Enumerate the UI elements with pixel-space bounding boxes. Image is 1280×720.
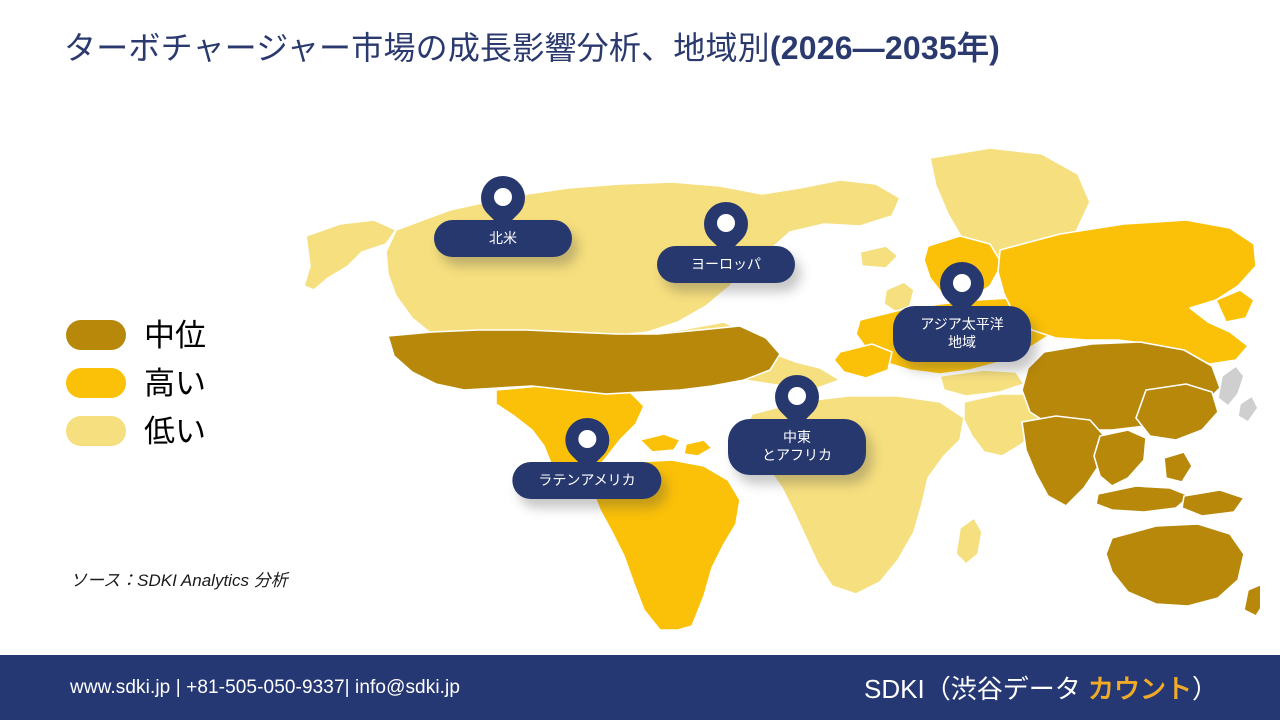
legend-label-low: 低い: [144, 416, 206, 447]
map-pin-label: 中東 とアフリカ: [728, 419, 866, 475]
footer-brand-accent: カウント: [1088, 674, 1192, 704]
legend-item-low: 低い: [66, 408, 326, 454]
legend: 中位 高い 低い: [66, 312, 326, 456]
legend-label-medium: 中位: [144, 320, 206, 351]
footer-brand-prefix: SDKI（渋谷データ: [864, 674, 1088, 704]
legend-swatch-high: [66, 368, 126, 398]
map-pin-middle-east-africa[interactable]: 中東 とアフリカ: [728, 375, 866, 475]
page-title-years: (2026—2035年): [770, 30, 1000, 66]
legend-item-high: 高い: [66, 360, 326, 406]
footer-bar: www.sdki.jp | +81-505-050-9337| info@sdk…: [0, 655, 1280, 720]
legend-swatch-medium: [66, 320, 126, 350]
slide-canvas: ターボチャージャー市場の成長影響分析、地域別(2026—2035年): [0, 0, 1280, 720]
legend-swatch-low: [66, 416, 126, 446]
footer-brand: SDKI（渋谷データ カウント）: [864, 669, 1218, 706]
map-pin-label: 北米: [434, 220, 572, 257]
page-title: ターボチャージャー市場の成長影響分析、地域別(2026—2035年): [64, 26, 1184, 71]
page-title-main: ターボチャージャー市場の成長影響分析、地域別: [64, 30, 770, 66]
map-pin-latin-america[interactable]: ラテンアメリカ: [512, 418, 661, 499]
footer-brand-suffix: ）: [1192, 674, 1218, 704]
map-pin-north-america[interactable]: 北米: [434, 176, 572, 257]
map-regions-inactive: [1218, 366, 1258, 422]
map-pin-label: ヨーロッパ: [657, 246, 795, 283]
map-pin-label: ラテンアメリカ: [512, 462, 661, 499]
footer-contact[interactable]: www.sdki.jp | +81-505-050-9337| info@sdk…: [70, 677, 460, 699]
source-note: ソース：SDKI Analytics 分析: [70, 566, 288, 591]
legend-label-high: 高い: [144, 368, 206, 399]
map-pin-label: アジア太平洋 地域: [893, 306, 1031, 362]
legend-item-medium: 中位: [66, 312, 326, 358]
map-pin-asia-pacific[interactable]: アジア太平洋 地域: [893, 262, 1031, 362]
map-pin-europe[interactable]: ヨーロッパ: [657, 202, 795, 283]
